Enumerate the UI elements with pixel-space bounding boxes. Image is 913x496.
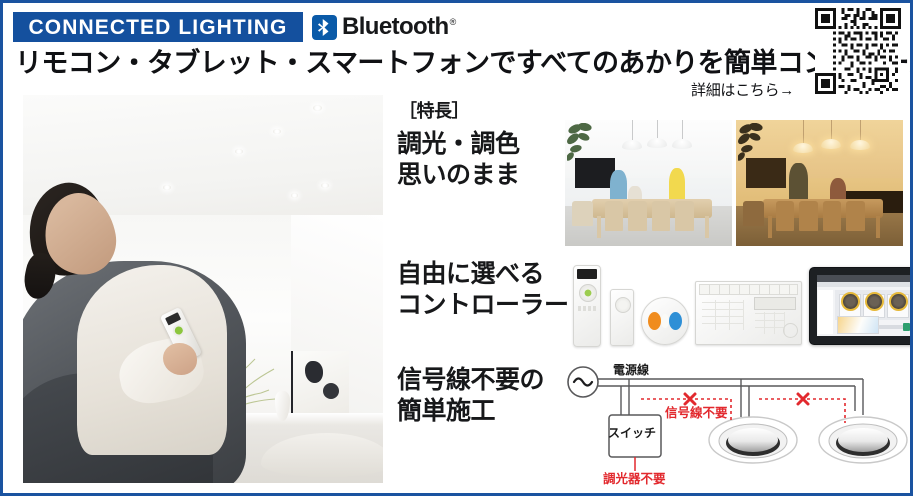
header: CONNECTED LIGHTING Bluetooth® リモコン・タブレット…	[3, 3, 910, 91]
dining-chair	[628, 201, 646, 231]
dining-chair	[652, 201, 670, 231]
room-photo-cool-white	[565, 120, 732, 246]
panel-top-row	[699, 284, 798, 295]
wall-tv	[575, 158, 615, 188]
downlight-icon	[163, 185, 171, 190]
qr-caption: 詳細はこちら→	[691, 79, 794, 100]
pendant-cord	[803, 120, 804, 143]
remote-dial-icon	[173, 325, 184, 336]
device-compact-remote	[610, 289, 634, 346]
pendant-light	[622, 140, 642, 150]
color-temperature-picker	[837, 316, 879, 334]
warm-toggle-icon	[648, 312, 661, 330]
remote-display	[577, 269, 597, 279]
device-wall-remote	[573, 265, 601, 347]
center-button	[661, 314, 669, 328]
bluetooth-icon	[312, 15, 337, 40]
registered-mark: ®	[450, 17, 456, 27]
table-leg	[768, 216, 772, 239]
pendant-cord	[860, 120, 861, 140]
art-blob	[305, 361, 323, 383]
pendant-light	[821, 139, 841, 149]
downlight-icon	[273, 129, 281, 134]
downlight-fixture	[709, 417, 797, 463]
tablet-screen	[817, 275, 913, 336]
label-switch: スイッチ	[608, 427, 656, 439]
feature-text-controllers: 自由に選べる コントローラー	[397, 259, 569, 320]
feature-text-dimming: 調光・調色 思いのまま	[397, 129, 520, 190]
remote-buttons	[578, 306, 596, 311]
table-leg	[597, 216, 601, 239]
poster-root: CONNECTED LIGHTING Bluetooth® リモコン・タブレット…	[0, 0, 913, 496]
remote-dial-icon	[615, 297, 631, 313]
pendant-cord	[682, 120, 683, 139]
tablet-sidebar	[818, 290, 833, 334]
device-control-panel	[695, 281, 802, 345]
pendant-cord	[657, 120, 658, 138]
hero-photo-woman-with-remote	[23, 95, 383, 483]
connected-lighting-banner: CONNECTED LIGHTING	[13, 12, 303, 42]
pendant-light	[647, 138, 667, 148]
downlight-icon	[313, 105, 322, 111]
scene-dial-icon	[841, 292, 860, 311]
tablet-titlebar	[817, 275, 913, 282]
room-scene-photos	[565, 120, 903, 246]
qr-code[interactable]	[815, 8, 901, 98]
pendant-light	[793, 143, 813, 153]
tablet-subbar	[817, 282, 913, 287]
controller-lineup-photo	[565, 259, 905, 351]
label-no-dimmer: 調光器不要	[603, 473, 666, 486]
dining-chair	[846, 201, 864, 231]
pendant-cord	[831, 120, 832, 139]
remote-screen	[165, 312, 181, 325]
dining-chair	[776, 201, 794, 231]
device-round-dial-controller	[641, 297, 689, 345]
scene-dial-icon	[889, 292, 908, 311]
qr-code-icon[interactable]	[815, 8, 901, 94]
lounge-chair	[572, 201, 594, 226]
downlight-icon	[321, 183, 329, 188]
dining-chair	[675, 201, 693, 231]
wall-art	[291, 351, 349, 413]
downlight-fixture	[819, 417, 907, 463]
page-headline: リモコン・タブレット・スマートフォンですべてのあかりを簡単コントロール	[15, 47, 913, 79]
art-blob	[323, 383, 339, 399]
label-no-signal-line: 信号線不要	[665, 407, 728, 420]
panel-keys-right	[755, 312, 785, 334]
bluetooth-word-text: Bluetooth	[342, 13, 449, 40]
downlight-icon	[235, 149, 243, 154]
woman-hand	[163, 343, 197, 375]
remote-dial-icon	[579, 284, 597, 302]
panel-navigation-ring	[783, 323, 798, 338]
bluetooth-wordmark: Bluetooth®	[342, 15, 456, 39]
dining-chair	[605, 201, 623, 231]
brightness-slider	[878, 325, 910, 329]
features-label: ［特長］	[399, 97, 469, 123]
scene-dial-icon	[865, 292, 884, 311]
banner-label: CONNECTED LIGHTING	[29, 17, 288, 38]
pendant-light	[850, 140, 870, 150]
pendant-cord	[632, 120, 633, 140]
pendant-light	[672, 139, 692, 149]
dining-chair	[823, 201, 841, 231]
feature-text-wiring: 信号線不要の 簡単施工	[397, 365, 544, 426]
cool-toggle-icon	[669, 312, 682, 330]
table-leg	[705, 216, 709, 239]
wall-tv	[746, 158, 786, 188]
bluetooth-logo: Bluetooth®	[312, 11, 456, 43]
downlight-icon	[291, 193, 298, 198]
table-leg	[876, 216, 880, 239]
panel-keys-left	[702, 300, 744, 330]
lounge-chair	[743, 201, 765, 226]
panel-lcd	[754, 297, 796, 310]
room-photo-warm-amber	[736, 120, 903, 246]
label-power-line: 電源線	[613, 364, 649, 376]
dining-chair	[799, 201, 817, 231]
device-tablet	[809, 267, 913, 345]
